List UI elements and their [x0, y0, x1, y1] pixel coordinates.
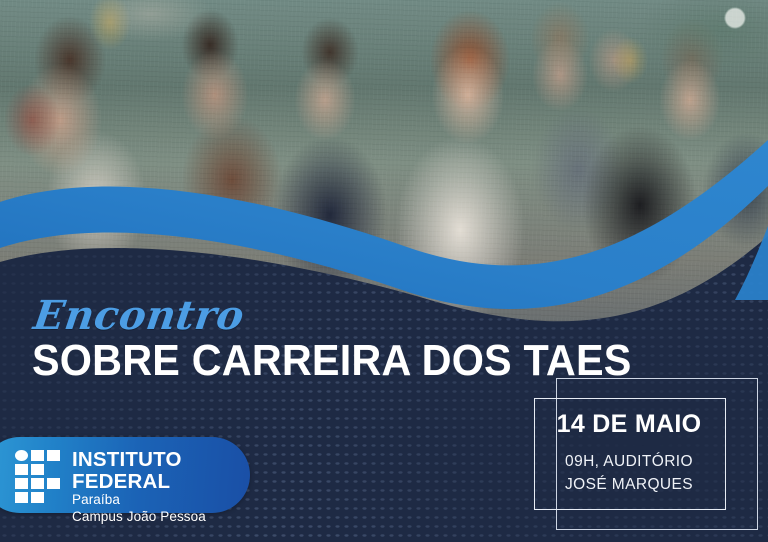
logo-cell [47, 478, 60, 489]
event-venue: 09H, AUDITÓRIO JOSÉ MARQUES [565, 451, 693, 496]
event-date: 14 DE MAIO [557, 410, 702, 439]
event-info-block: 14 DE MAIO 09H, AUDITÓRIO JOSÉ MARQUES [534, 398, 724, 508]
logo-cell [47, 450, 60, 461]
page-title: SOBRE CARREIRA DOS TAES [32, 339, 632, 383]
logo-state: Paraíba [72, 492, 250, 509]
logo-cell [15, 464, 28, 475]
script-title: Encontro [31, 292, 248, 339]
logo-cell-empty [47, 464, 60, 475]
logo-cell [15, 492, 28, 503]
logo-cell [15, 478, 28, 489]
event-venue-line2: JOSÉ MARQUES [565, 474, 693, 496]
logo-cell-empty [47, 492, 60, 503]
logo-cell [31, 492, 44, 503]
logo-campus: Campus João Pessoa [72, 509, 250, 526]
event-poster: Encontro SOBRE CARREIRA DOS TAES INSTITU… [0, 0, 768, 542]
event-venue-line1: 09H, AUDITÓRIO [565, 451, 693, 473]
ifpb-logo-text: INSTITUTO FEDERAL Paraíba Campus João Pe… [72, 449, 250, 526]
logo-institution-name: INSTITUTO FEDERAL [72, 449, 250, 492]
ifpb-logo-pill: INSTITUTO FEDERAL Paraíba Campus João Pe… [0, 437, 250, 513]
ifpb-logo-icon [15, 450, 61, 500]
logo-cell [31, 464, 44, 475]
logo-cell-circle [15, 450, 28, 461]
logo-cell [31, 478, 44, 489]
logo-cell [31, 450, 44, 461]
